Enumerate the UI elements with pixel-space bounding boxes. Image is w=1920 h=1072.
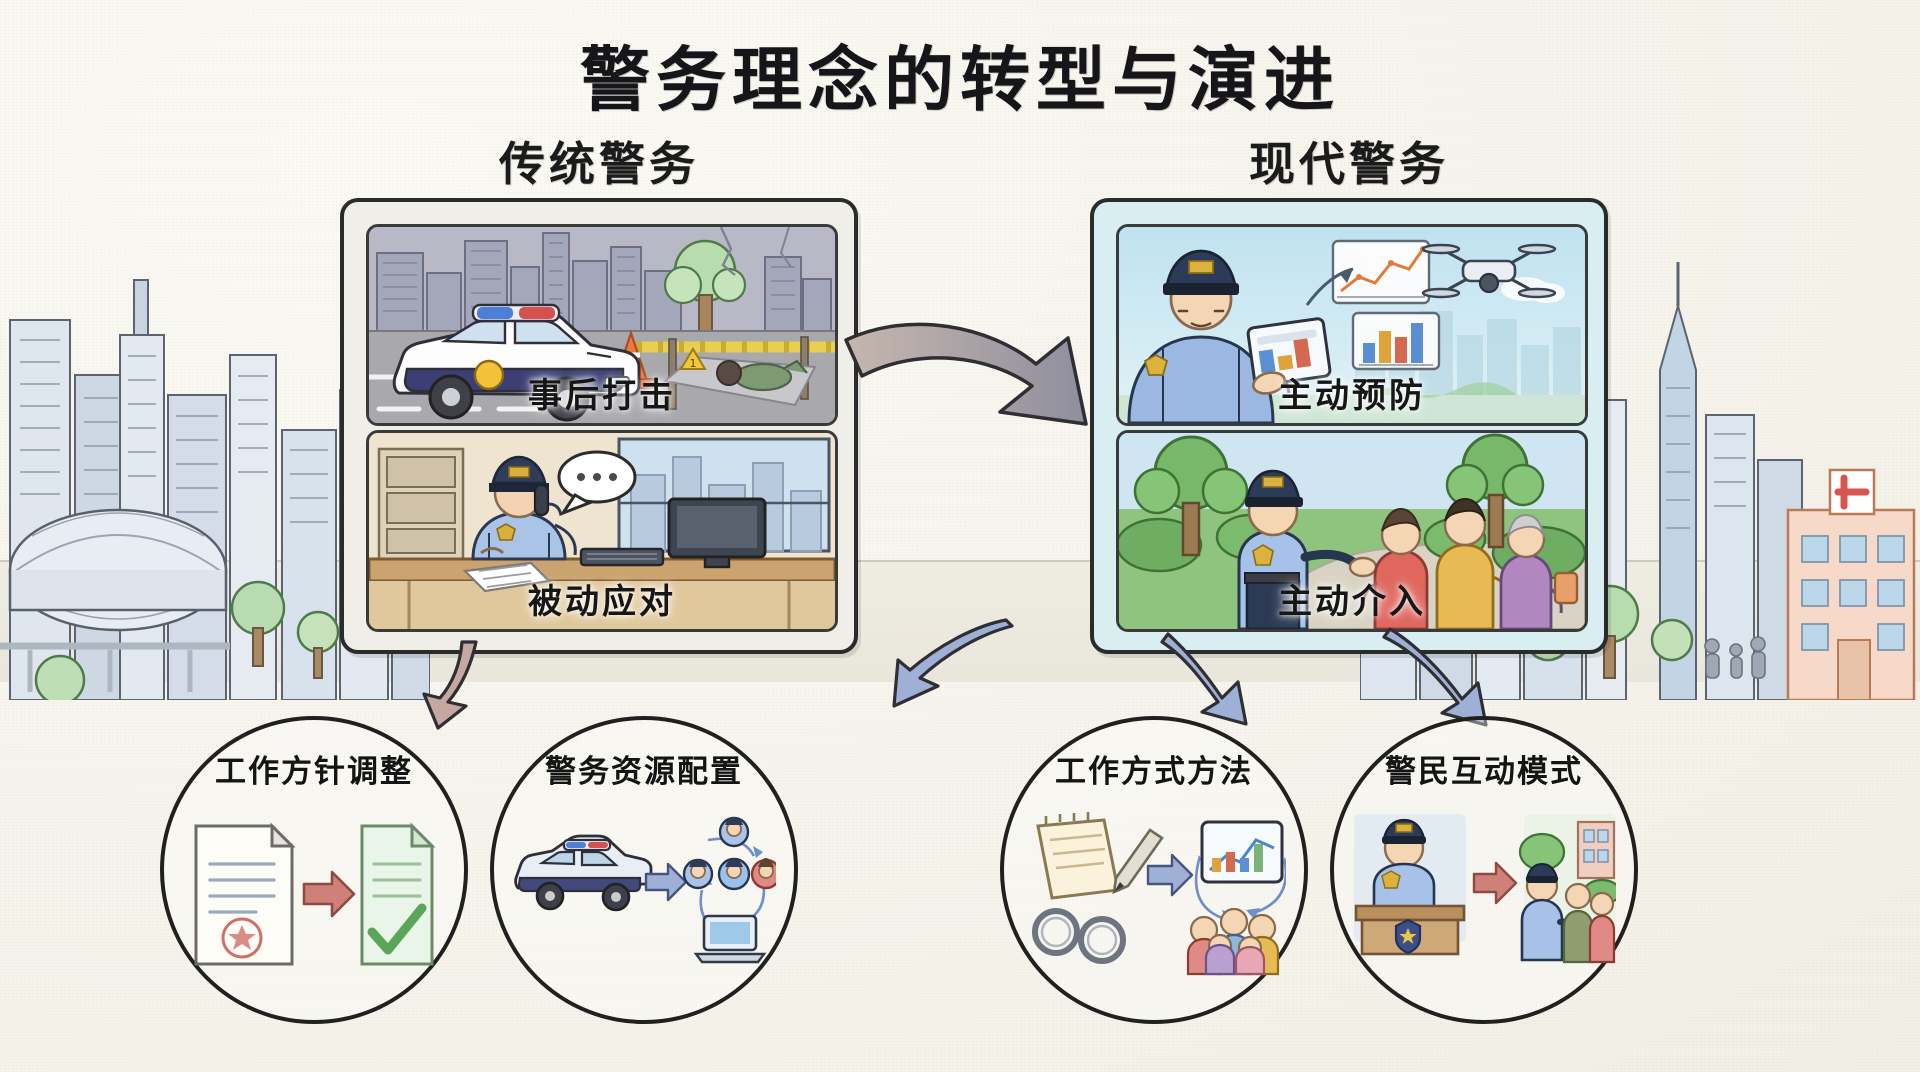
handcuffs-icon [1035,911,1123,961]
stadium-icon [10,510,226,630]
laptop-icon [696,916,764,962]
panel-traditional-policing[interactable]: 传统警务 [340,198,858,654]
avatar-person-4 [1206,935,1234,974]
avatar-resident-1 [1564,884,1592,962]
circle-label-methods: 工作方式方法 [1004,746,1304,791]
circle-label-relations: 警民互动模式 [1334,746,1634,791]
scene-label-passive-response: 被动应对 [369,574,835,623]
panel-modern-title: 现代警务 [1094,128,1604,194]
avatar-operator-right [752,858,776,888]
circle-policy-adjustment[interactable]: 工作方针调整 [160,716,468,1024]
avatar-officer-center [719,859,749,889]
transition-arrow-icon [1474,863,1516,903]
scene-label-reactive-strike: 事后打击 [369,368,835,417]
panel-traditional-title: 传统警务 [344,128,854,194]
notebook-handcuffs-to-tablet-art [1022,812,1286,982]
circle-methods[interactable]: 工作方式方法 [1000,716,1308,1024]
patrol-car-to-team-network-art [512,812,776,982]
avatar-person-5 [1236,937,1264,974]
avatar-officer-left [684,859,712,888]
transition-arrow-icon [1148,855,1192,895]
police-car-icon [516,836,651,910]
tablet-icon [1202,822,1282,882]
avatar-officer-top [720,817,748,846]
hospital-cross-icon [1788,470,1914,700]
panel-modern-policing[interactable]: 现代警务 [1090,198,1608,654]
circle-label-policy: 工作方针调整 [164,746,464,791]
scene-desk-officer[interactable]: 被动应对 [366,430,838,632]
telephone-icon [535,485,548,515]
avatar-resident-2 [1590,893,1614,962]
circle-resource-allocation[interactable]: 警务资源配置 [490,716,798,1024]
circle-label-resources: 警务资源配置 [494,746,794,791]
scene-label-proactive-engagement: 主动介入 [1119,574,1585,623]
circle-police-public-interaction[interactable]: 警民互动模式 [1330,716,1638,1024]
scene-community[interactable]: 主动介入 [1116,430,1588,632]
page-title: 警务理念的转型与演进 [0,24,1920,125]
scene-crime-scene[interactable]: 1 [366,224,838,426]
counter-desk-to-street-contact-art [1352,812,1616,982]
transition-arrow-icon [304,872,354,916]
notebook-icon [1038,812,1118,898]
scene-label-proactive-prevention: 主动预防 [1119,368,1585,417]
monitor-icon [669,499,765,567]
bar-chart-icon [1353,313,1439,369]
scene-data-drone[interactable]: 主动预防 [1116,224,1588,426]
document-to-approved-document-art [182,812,446,982]
